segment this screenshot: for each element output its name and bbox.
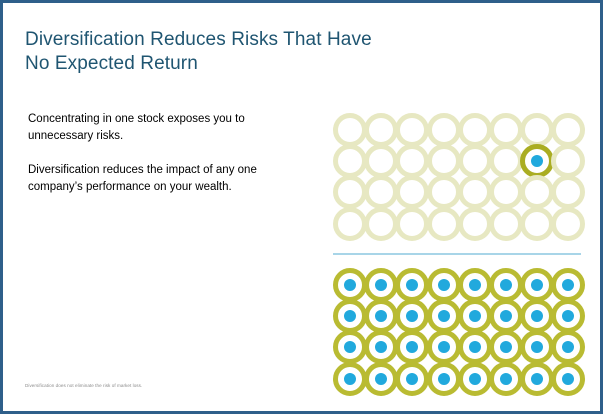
holding-circle <box>364 299 398 333</box>
holding-circle <box>333 144 367 178</box>
holding-circle <box>520 362 554 396</box>
circle-core <box>469 310 481 322</box>
circle-ring <box>458 113 492 147</box>
holding-circle <box>395 175 429 209</box>
circle-core <box>531 373 543 385</box>
holding-circle <box>395 144 429 178</box>
circle-ring <box>551 144 585 178</box>
holding-circle <box>489 330 523 364</box>
holding-circle <box>520 299 554 333</box>
circle-ring <box>364 144 398 178</box>
holding-circle <box>364 268 398 302</box>
circle-ring <box>364 207 398 241</box>
holding-circle <box>427 268 461 302</box>
body-paragraph-2: Diversification reduces the impact of an… <box>28 162 278 196</box>
holding-circle <box>489 144 523 178</box>
holding-circle <box>458 144 492 178</box>
holding-circle <box>551 362 585 396</box>
holding-circle <box>395 330 429 364</box>
holding-circle <box>489 207 523 241</box>
holding-circle <box>333 330 367 364</box>
circle-ring <box>333 175 367 209</box>
circle-core <box>438 341 450 353</box>
circle-ring <box>520 113 554 147</box>
holding-circle <box>364 330 398 364</box>
holding-circle <box>520 268 554 302</box>
holding-circle <box>395 299 429 333</box>
holding-circle <box>520 330 554 364</box>
circle-ring <box>427 113 461 147</box>
circle-ring <box>489 175 523 209</box>
holding-circle <box>395 362 429 396</box>
holding-circle <box>364 207 398 241</box>
circle-core <box>500 373 512 385</box>
holding-circle <box>364 175 398 209</box>
circle-ring <box>458 144 492 178</box>
circle-core <box>375 373 387 385</box>
circle-ring <box>333 113 367 147</box>
holding-circle <box>333 207 367 241</box>
circle-ring <box>333 144 367 178</box>
circle-ring <box>489 144 523 178</box>
circle-ring <box>395 144 429 178</box>
holding-circle <box>427 144 461 178</box>
disclaimer-text: Diversification does not eliminate the r… <box>25 382 142 389</box>
holding-circle <box>427 299 461 333</box>
holding-circle <box>520 113 554 147</box>
slide: Diversification Reduces Risks That Have … <box>0 0 603 414</box>
body-paragraph-1: Concentrating in one stock exposes you t… <box>28 111 278 145</box>
holding-circle <box>395 268 429 302</box>
circle-core <box>344 373 356 385</box>
holding-circle <box>364 144 398 178</box>
circle-ring <box>551 113 585 147</box>
circle-ring <box>395 175 429 209</box>
circle-core <box>438 310 450 322</box>
circle-core <box>500 279 512 291</box>
holding-circle <box>333 113 367 147</box>
holding-circle <box>458 330 492 364</box>
concentrated-portfolio-grid <box>333 113 581 237</box>
holding-circle <box>427 362 461 396</box>
holding-circle <box>520 175 554 209</box>
holding-circle <box>333 299 367 333</box>
circle-ring <box>520 207 554 241</box>
holding-circle <box>551 207 585 241</box>
circle-core <box>469 373 481 385</box>
holding-circle <box>333 175 367 209</box>
holding-circle <box>333 268 367 302</box>
holding-circle <box>458 175 492 209</box>
holding-circle <box>458 299 492 333</box>
circle-ring <box>489 207 523 241</box>
holding-circle <box>489 175 523 209</box>
holding-circle <box>551 268 585 302</box>
circle-ring <box>551 207 585 241</box>
circle-ring <box>364 113 398 147</box>
section-divider <box>333 253 581 255</box>
circle-ring <box>458 175 492 209</box>
circle-ring <box>427 175 461 209</box>
circle-core <box>344 279 356 291</box>
holding-circle <box>458 268 492 302</box>
holding-circle <box>551 330 585 364</box>
holding-circle <box>395 207 429 241</box>
circle-core <box>406 373 418 385</box>
circle-ring <box>520 175 554 209</box>
holding-circle <box>458 362 492 396</box>
circle-ring <box>395 207 429 241</box>
holding-circle <box>489 113 523 147</box>
circle-core <box>469 279 481 291</box>
circle-core <box>438 279 450 291</box>
body-text: Concentrating in one stock exposes you t… <box>28 111 278 196</box>
holding-circle <box>427 207 461 241</box>
holding-circle <box>427 330 461 364</box>
highlighted-holding-circle <box>520 144 554 178</box>
holding-circle <box>551 144 585 178</box>
holding-circle <box>551 175 585 209</box>
holding-circle <box>364 362 398 396</box>
holding-circle <box>520 207 554 241</box>
circle-ring <box>551 175 585 209</box>
holding-circle <box>333 362 367 396</box>
holding-circle <box>551 113 585 147</box>
circle-ring <box>458 207 492 241</box>
holding-circle <box>364 113 398 147</box>
holding-circle <box>551 299 585 333</box>
holding-circle <box>395 113 429 147</box>
circle-ring <box>427 207 461 241</box>
holding-circle <box>458 113 492 147</box>
circle-ring <box>427 144 461 178</box>
holding-circle <box>489 362 523 396</box>
diversified-portfolio-grid <box>333 268 581 400</box>
circle-ring <box>364 175 398 209</box>
circle-core <box>562 373 574 385</box>
holding-circle <box>489 299 523 333</box>
circle-ring <box>333 207 367 241</box>
circle-core <box>438 373 450 385</box>
circle-ring <box>395 113 429 147</box>
circle-ring <box>489 113 523 147</box>
holding-circle <box>458 207 492 241</box>
page-title: Diversification Reduces Risks That Have … <box>25 28 545 76</box>
holding-circle <box>427 113 461 147</box>
holding-circle <box>489 268 523 302</box>
holding-circle <box>427 175 461 209</box>
